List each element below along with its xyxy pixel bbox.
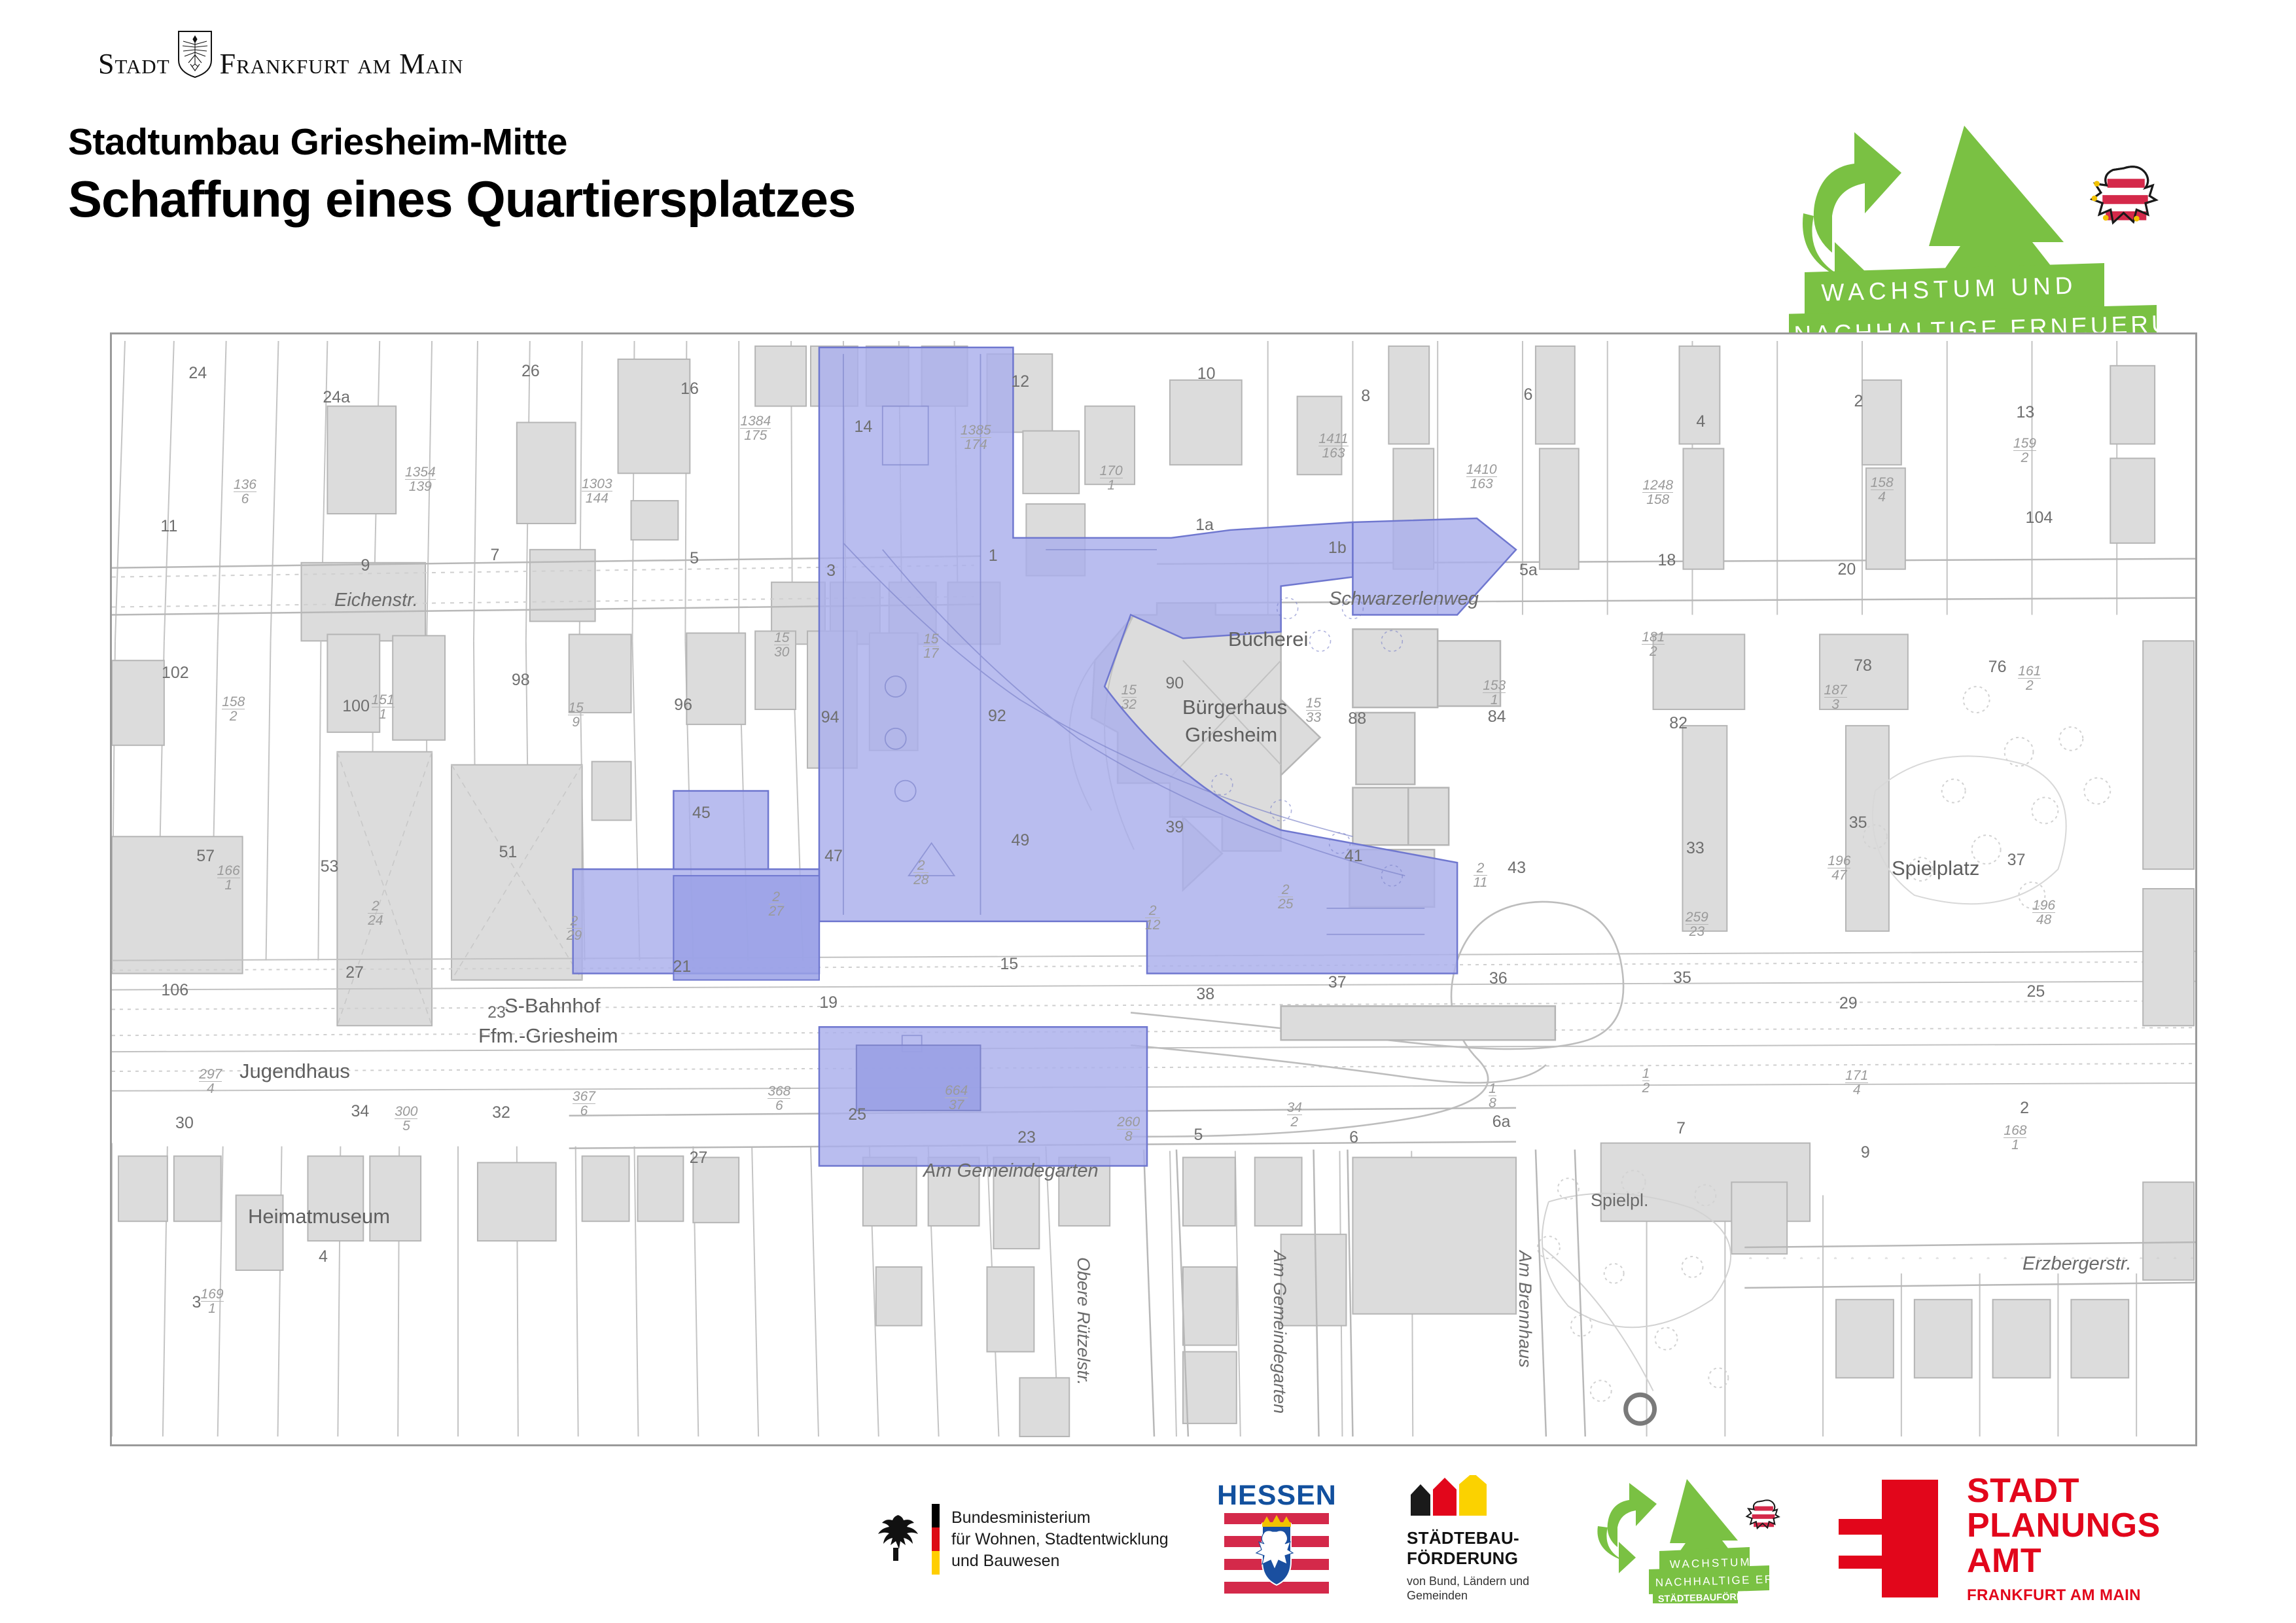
logo-stadtplanungsamt: STADT PLANUNGS AMT FRANKFURT AM MAIN <box>1839 1474 2161 1605</box>
bmwsb-line-2: für Wohnen, Stadtentwicklung <box>951 1530 1169 1548</box>
spa-line-2: PLANUNGS <box>1967 1508 2161 1543</box>
frankfurt-eagle-crest-icon <box>176 30 214 79</box>
hessen-shield-icon <box>1222 1512 1332 1599</box>
sbf-line-2: FÖRDERUNG <box>1407 1548 1519 1569</box>
bundesadler-icon <box>870 1511 921 1568</box>
title-block: Stadtumbau Griesheim-Mitte Schaffung ein… <box>68 121 855 228</box>
poster-page: Stadt Frankfurt am Main Stadtumbau Gries… <box>0 0 2296 1623</box>
sbf-line-1: STÄDTEBAU- <box>1407 1528 1519 1548</box>
page-title: Schaffung eines Quartiersplatzes <box>68 170 855 229</box>
three-houses-icon <box>1407 1475 1491 1519</box>
hessen-lion-icon <box>2092 167 2157 223</box>
sbf-sub-2: Gemeinden <box>1407 1589 1529 1603</box>
project-subtitle: Stadtumbau Griesheim-Mitte <box>68 121 855 164</box>
bmwsb-line-1: Bundesministerium <box>951 1508 1091 1527</box>
cadastral-map[interactable]: Eichenstr. Schwarzerlenweg Am Gemeindega… <box>110 332 2197 1446</box>
recycle-arrow-icon <box>1597 1483 1657 1573</box>
hessen-lion-icon <box>1747 1500 1779 1528</box>
logo-bmwsb: Bundesministerium für Wohnen, Stadtentwi… <box>870 1474 1169 1605</box>
stadtplanungsamt-mark-icon <box>1839 1478 1938 1601</box>
city-of-frankfurt-logo: Stadt Frankfurt am Main <box>98 31 464 79</box>
spa-line-1: STADT <box>1967 1474 2161 1508</box>
city-logo-word-left: Stadt <box>98 50 170 79</box>
city-logo-word-right: Frankfurt am Main <box>220 50 464 79</box>
german-flag-bar-icon <box>932 1504 940 1575</box>
bmwsb-text: Bundesministerium für Wohnen, Stadtentwi… <box>951 1507 1169 1572</box>
spa-line-3: AMT <box>1967 1544 2161 1578</box>
logo-hessen: HESSEN <box>1217 1474 1337 1605</box>
map-canvas <box>112 334 2195 1444</box>
sbf-sub-1: von Bund, Ländern und <box>1407 1575 1529 1589</box>
logo-staedtebaufoerderung: STÄDTEBAU- FÖRDERUNG von Bund, Ländern u… <box>1407 1474 1529 1605</box>
footer-logo-bar: Bundesministerium für Wohnen, Stadtentwi… <box>0 1474 2296 1605</box>
hessen-wordmark: HESSEN <box>1217 1480 1337 1512</box>
logo-wachstum-footer: WACHSTUM UND NACHHALTIGE ERNEUERUNG STÄD… <box>1597 1474 1793 1605</box>
bmwsb-line-3: und Bauwesen <box>951 1552 1059 1570</box>
footer-logo-line-1: WACHSTUM UND <box>1670 1555 1788 1571</box>
spa-sub: FRANKFURT AM MAIN <box>1967 1586 2161 1605</box>
